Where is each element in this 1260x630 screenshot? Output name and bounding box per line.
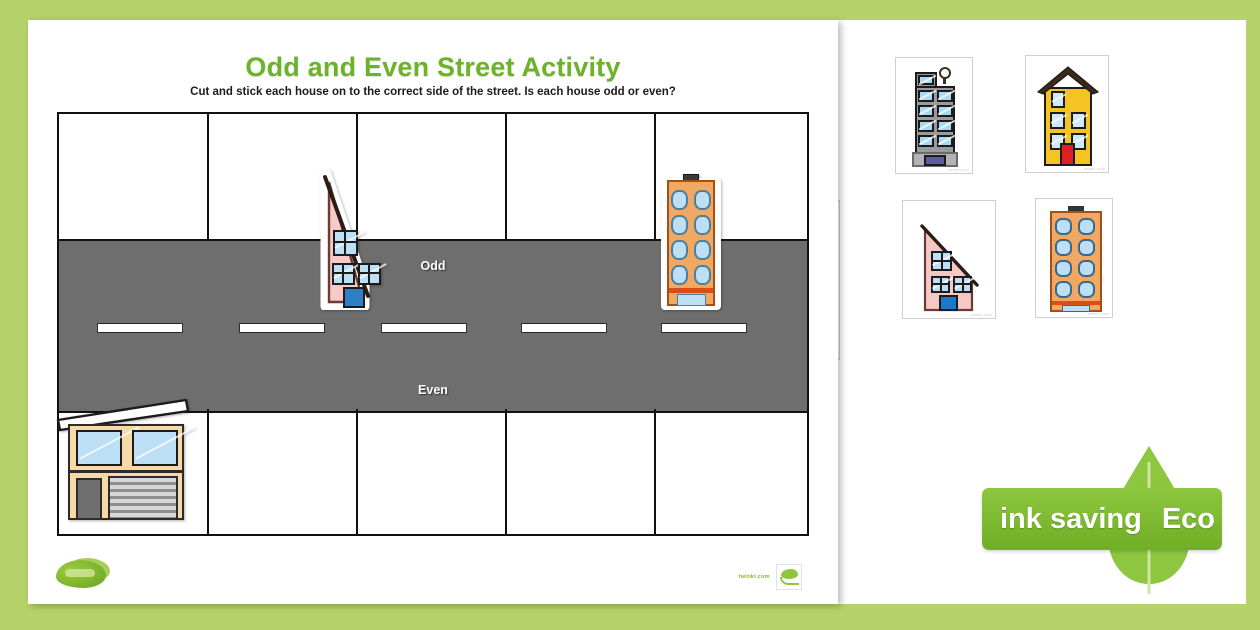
placed-house-orange-block[interactable] [661,170,721,310]
twinkl-logo[interactable] [56,560,106,588]
garage-door [108,476,178,520]
road-dash [239,323,325,333]
ink-saving-eco-badge: ink saving Eco [982,424,1242,594]
window [918,75,934,85]
door [76,478,102,520]
road-dash [521,323,607,333]
door [343,287,365,308]
grey-tower-icon [912,67,958,167]
eco-text: ink saving Eco [982,488,1240,550]
grid-divider [356,409,358,534]
footer-url[interactable]: twinkl.com [739,574,770,580]
card-caption: twinkl.com [971,312,992,317]
orange-block-icon [1050,206,1102,312]
road-dash [661,323,747,333]
grid-divider [505,409,507,534]
pink-house-icon [917,209,983,312]
road-dash [381,323,467,333]
roof-shape [1035,65,1101,95]
window [76,430,122,466]
window [132,430,178,466]
grid-divider [654,114,656,239]
road-dash [97,323,183,333]
card-caption: twinkl.com [1088,311,1109,316]
eco-primary-label: ink saving [1000,503,1142,536]
card-yellow-house[interactable]: twinkl.com [1025,55,1109,173]
card-caption: twinkl.com [1084,166,1105,171]
placed-house-pink-gable[interactable] [296,168,388,310]
card-caption: twinkl.com [948,167,969,172]
grid-divider [505,114,507,239]
grid-divider [654,409,656,534]
grid-divider [207,409,209,534]
page-subtitle: Cut and stick each house on to the corre… [28,86,838,98]
card-orange-block[interactable]: twinkl.com [1035,198,1113,318]
eco-secondary-label: Eco [1162,503,1215,536]
placed-house-modern-garage[interactable] [40,392,190,524]
screenshot-stage: twinkl.com [0,0,1260,630]
entrance [677,294,706,306]
footer-credit: twinkl.com [739,564,802,590]
grid-divider [207,114,209,239]
yellow-house-icon [1035,65,1101,166]
twinkl-leaf-mark-icon [776,564,802,590]
card-grey-tower[interactable]: twinkl.com [895,57,973,174]
page-title: Odd and Even Street Activity [28,52,838,83]
worksheet-page: Odd and Even Street Activity Cut and sti… [28,20,838,604]
card-pink-house[interactable]: twinkl.com [902,200,996,319]
cutout-page: twinkl.com [836,20,1246,604]
